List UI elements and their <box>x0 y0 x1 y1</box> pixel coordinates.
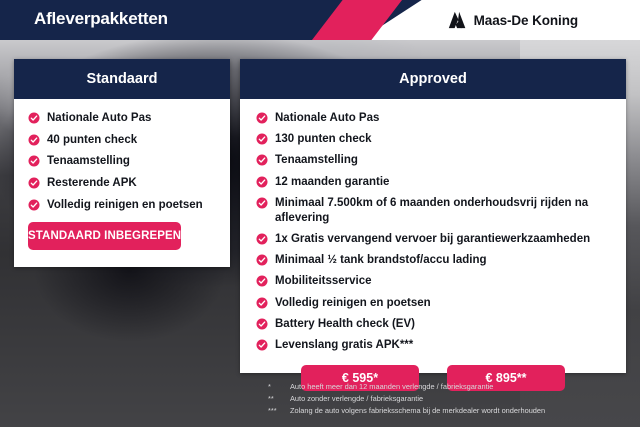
footnote-row: ***Zolang de auto volgens fabrieksschema… <box>268 405 638 417</box>
check-circle-icon <box>256 254 268 266</box>
feature-label: Volledig reinigen en poetsen <box>47 198 203 213</box>
feature-label: Tenaamstelling <box>275 153 358 168</box>
footnote-text: Auto zonder verlengde / fabrieksgarantie <box>290 393 423 405</box>
feature-label: Battery Health check (EV) <box>275 317 415 332</box>
feature-item: Minimaal 7.500km of 6 maanden onderhouds… <box>256 196 610 226</box>
brand-logo: Maas-De Koning <box>447 11 578 29</box>
feature-label: 1x Gratis vervangend vervoer bij garanti… <box>275 232 590 247</box>
check-circle-icon <box>28 134 40 146</box>
feature-label: 12 maanden garantie <box>275 175 389 190</box>
feature-item: Nationale Auto Pas <box>28 111 216 126</box>
footnote-row: **Auto zonder verlengde / fabrieksgarant… <box>268 393 638 405</box>
check-circle-icon <box>28 112 40 124</box>
card-approved-body: Nationale Auto Pas130 punten checkTenaam… <box>240 99 626 391</box>
check-circle-icon <box>256 112 268 124</box>
check-circle-icon <box>256 154 268 166</box>
feature-list-standaard: Nationale Auto Pas40 punten checkTenaams… <box>28 111 216 213</box>
feature-item: Tenaamstelling <box>28 154 216 169</box>
footnote-marker: *** <box>268 405 290 417</box>
footnote-text: Auto heeft meer dan 12 maanden verlengde… <box>290 381 493 393</box>
feature-item: Resterende APK <box>28 176 216 191</box>
check-circle-icon <box>28 177 40 189</box>
card-approved-title: Approved <box>240 59 626 99</box>
footnote-marker: ** <box>268 393 290 405</box>
feature-item: 130 punten check <box>256 132 610 147</box>
check-circle-icon <box>256 339 268 351</box>
check-circle-icon <box>256 275 268 287</box>
check-circle-icon <box>256 297 268 309</box>
card-standaard-body: Nationale Auto Pas40 punten checkTenaams… <box>14 99 230 250</box>
footnotes: *Auto heeft meer dan 12 maanden verlengd… <box>268 381 638 417</box>
feature-label: Tenaamstelling <box>47 154 130 169</box>
page-title: Afleverpakketten <box>34 9 168 29</box>
feature-item: Levenslang gratis APK*** <box>256 338 610 353</box>
feature-item: Tenaamstelling <box>256 153 610 168</box>
feature-item: Nationale Auto Pas <box>256 111 610 126</box>
brand-name: Maas-De Koning <box>474 13 578 28</box>
maas-de-koning-logo-icon <box>447 11 467 29</box>
feature-item: Mobiliteitsservice <box>256 274 610 289</box>
feature-label: Nationale Auto Pas <box>47 111 151 126</box>
feature-item: Volledig reinigen en poetsen <box>28 198 216 213</box>
feature-list-approved: Nationale Auto Pas130 punten checkTenaam… <box>256 111 610 353</box>
footnote-marker: * <box>268 381 290 393</box>
footnote-text: Zolang de auto volgens fabrieksschema bi… <box>290 405 545 417</box>
feature-label: Minimaal ½ tank brandstof/accu lading <box>275 253 487 268</box>
feature-label: Minimaal 7.500km of 6 maanden onderhouds… <box>275 196 610 226</box>
check-circle-icon <box>28 199 40 211</box>
footnote-row: *Auto heeft meer dan 12 maanden verlengd… <box>268 381 638 393</box>
feature-item: Volledig reinigen en poetsen <box>256 296 610 311</box>
card-standaard: Standaard Nationale Auto Pas40 punten ch… <box>14 59 230 267</box>
feature-item: Minimaal ½ tank brandstof/accu lading <box>256 253 610 268</box>
feature-item: 1x Gratis vervangend vervoer bij garanti… <box>256 232 610 247</box>
page-header: Afleverpakketten Maas-De Koning <box>0 0 640 40</box>
feature-item: 40 punten check <box>28 133 216 148</box>
standaard-inbegrepen-button[interactable]: STANDAARD INBEGREPEN <box>28 222 181 250</box>
feature-label: Levenslang gratis APK*** <box>275 338 413 353</box>
check-circle-icon <box>256 176 268 188</box>
check-circle-icon <box>256 133 268 145</box>
feature-item: 12 maanden garantie <box>256 175 610 190</box>
feature-item: Battery Health check (EV) <box>256 317 610 332</box>
feature-label: 130 punten check <box>275 132 372 147</box>
feature-label: Nationale Auto Pas <box>275 111 379 126</box>
feature-label: 40 punten check <box>47 133 137 148</box>
check-circle-icon <box>28 155 40 167</box>
card-standaard-title: Standaard <box>14 59 230 99</box>
feature-label: Resterende APK <box>47 176 137 191</box>
feature-label: Volledig reinigen en poetsen <box>275 296 431 311</box>
check-circle-icon <box>256 318 268 330</box>
feature-label: Mobiliteitsservice <box>275 274 372 289</box>
check-circle-icon <box>256 197 268 209</box>
check-circle-icon <box>256 233 268 245</box>
card-approved: Approved Nationale Auto Pas130 punten ch… <box>240 59 626 373</box>
